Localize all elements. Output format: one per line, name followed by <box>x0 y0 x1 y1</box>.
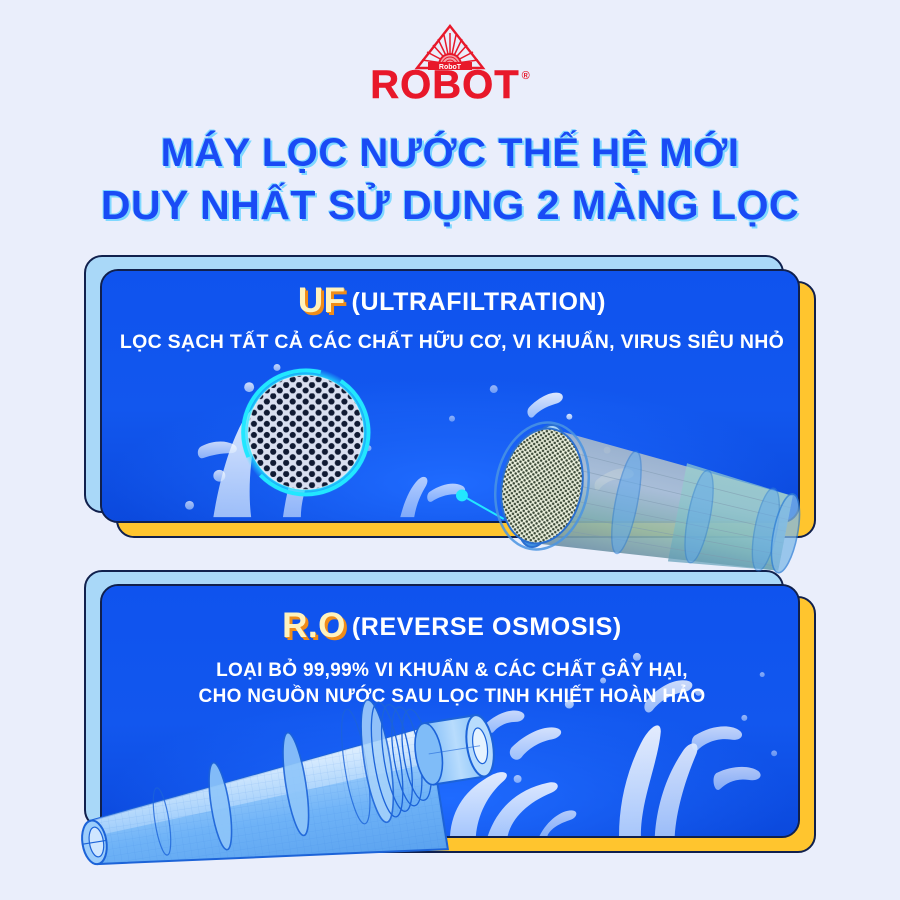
headline-line-1: MÁY LỌC NƯỚC THẾ HỆ MỚI <box>0 128 900 179</box>
brand-name: ROBOT <box>370 66 519 104</box>
brand-logo: RoboT ROBOT ® <box>0 24 900 114</box>
ro-expansion: (REVERSE OSMOSIS) <box>352 613 622 641</box>
uf-expansion: (ULTRAFILTRATION) <box>352 288 607 316</box>
uf-heading: UF(ULTRAFILTRATION) <box>84 281 820 321</box>
page-title: MÁY LỌC NƯỚC THẾ HỆ MỚI DUY NHẤT SỬ DỤNG… <box>0 128 900 232</box>
water-splash-right-icon <box>527 393 633 517</box>
poster-root: RoboT ROBOT ® MÁY LỌC NƯỚC THẾ HỆ MỚI DU… <box>0 0 900 900</box>
ro-card: R.O(REVERSE OSMOSIS) LOẠI BỎ 99,99% VI K… <box>84 570 820 855</box>
headline-line-2: DUY NHẤT SỬ DỤNG 2 MÀNG LỌC <box>0 179 900 231</box>
ro-abbr: R.O <box>282 606 346 645</box>
uf-card: UF(ULTRAFILTRATION) LỌC SẠCH TẤT CẢ CÁC … <box>84 255 820 540</box>
ro-description: LOẠI BỎ 99,99% VI KHUẨN & CÁC CHẤT GÂY H… <box>84 658 820 709</box>
uf-description: LỌC SẠCH TẤT CẢ CÁC CHẤT HỮU CƠ, VI KHUẨ… <box>84 329 820 355</box>
uf-abbr: UF <box>298 281 346 320</box>
ro-description-line-2: CHO NGUỒN NƯỚC SAU LỌC TINH KHIẾT HOÀN H… <box>84 684 820 710</box>
registered-mark: ® <box>522 70 530 82</box>
ro-description-line-1: LOẠI BỎ 99,99% VI KHUẨN & CÁC CHẤT GÂY H… <box>84 658 820 684</box>
ro-heading: R.O(REVERSE OSMOSIS) <box>84 606 820 646</box>
membrane-leader-line <box>457 490 504 519</box>
brand-wordmark: ROBOT ® <box>370 66 530 104</box>
